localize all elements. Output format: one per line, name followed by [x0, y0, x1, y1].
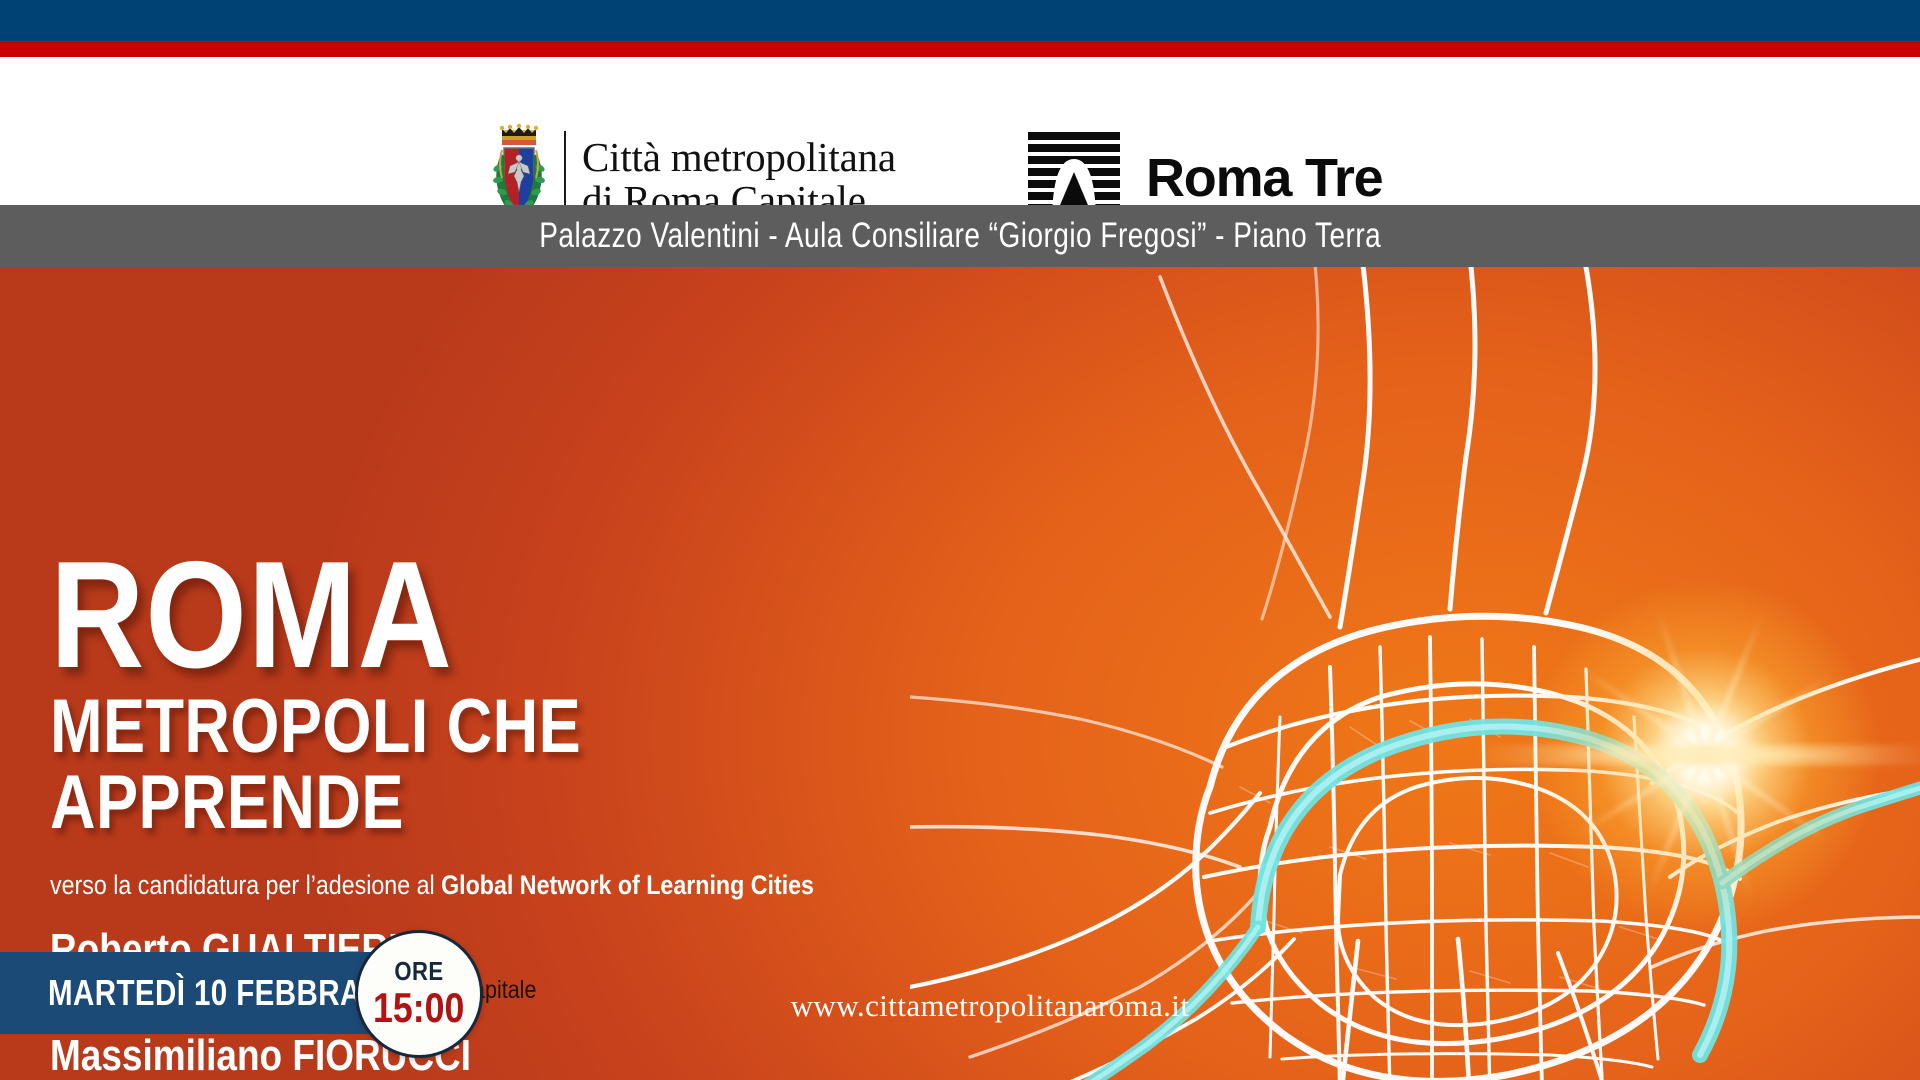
tagline-bold: Global Network of Learning Cities	[441, 870, 814, 900]
main-body: ROMA METROPOLI CHE APPRENDE verso la can…	[0, 267, 1920, 1080]
logo-strip: Città metropolitana di Roma Capitale	[0, 57, 1920, 205]
speaker-first-name: Massimiliano	[50, 1031, 292, 1080]
venue-bar: Palazzo Valentini - Aula Consiliare “Gio…	[0, 205, 1920, 267]
top-navy-band	[0, 0, 1920, 41]
top-red-band	[0, 41, 1920, 57]
venue-text: Palazzo Valentini - Aula Consiliare “Gio…	[539, 216, 1381, 256]
time-label: ORE	[394, 958, 443, 984]
event-poster: Città metropolitana di Roma Capitale	[0, 0, 1920, 1080]
tagline: verso la candidatura per l’adesione al G…	[50, 869, 919, 901]
speaker-entry: Massimiliano FIORUCCI Rettore Università…	[50, 1033, 1060, 1080]
organization-line-1: Città metropolitana	[582, 136, 896, 179]
speaker-name: Massimiliano FIORUCCI	[50, 1033, 898, 1079]
page-subtitle: METROPOLI CHE APPRENDE	[50, 689, 888, 841]
event-date: MARTEDÌ 10 FEBBRAIO	[48, 972, 394, 1014]
tagline-plain: verso la candidatura per l’adesione al	[50, 870, 441, 900]
time-value: 15:00	[373, 986, 464, 1030]
time-badge: ORE 15:00	[355, 930, 483, 1058]
university-name: Roma Tre	[1146, 147, 1383, 209]
page-title: ROMA	[50, 550, 919, 681]
